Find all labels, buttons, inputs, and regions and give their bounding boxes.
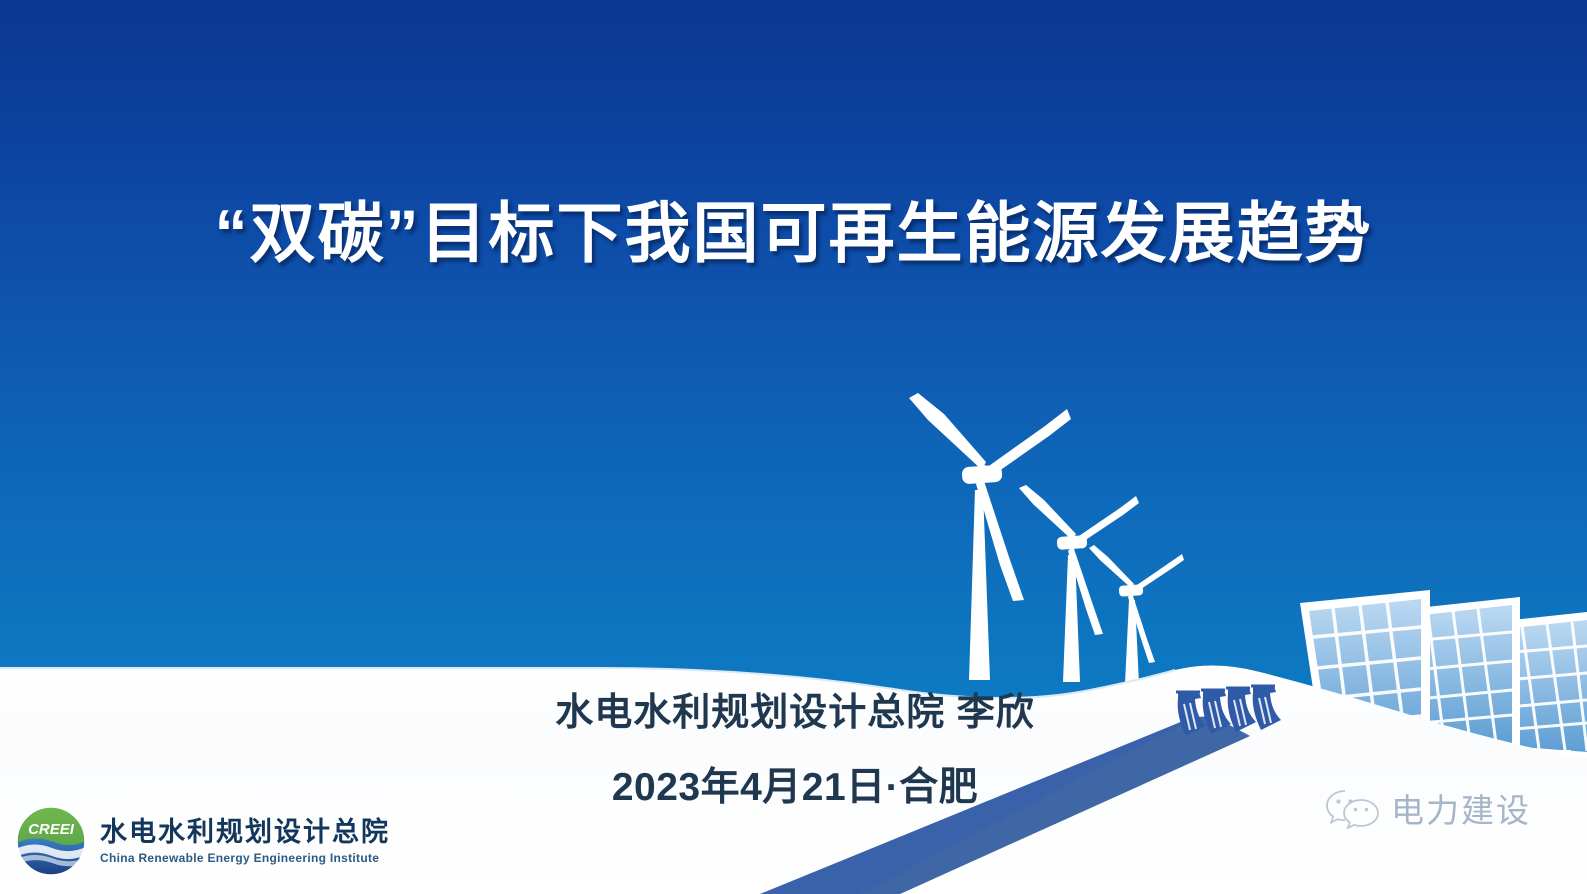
presenter-name: 水电水利规划设计总院 李欣 bbox=[505, 694, 1085, 732]
wechat-watermark-label: 电力建设 bbox=[1391, 784, 1531, 832]
creei-circle-logo: CREEI bbox=[14, 804, 88, 878]
wind-turbine-icon bbox=[909, 393, 1184, 684]
date-location: 2023年4月21日·合肥 bbox=[505, 756, 1085, 812]
presenter-info: 水电水利规划设计总院 李欣 2023年4月21日·合肥 bbox=[505, 694, 1085, 812]
presentation-slide: “双碳”目标下我国可再生能源发展趋势 水电水利规划设计总院 李欣 2023年4月… bbox=[0, 0, 1587, 894]
wechat-icon bbox=[1325, 787, 1381, 829]
organization-name-cn: 水电水利规划设计总院 bbox=[100, 819, 390, 846]
organization-logo: CREEI 水电水利规划设计总院 China Renewable Energy … bbox=[14, 804, 390, 878]
slide-title: “双碳”目标下我国可再生能源发展趋势 bbox=[0, 196, 1587, 272]
organization-name-en: China Renewable Energy Engineering Insti… bbox=[100, 852, 390, 864]
wechat-watermark: 电力建设 bbox=[1325, 784, 1531, 832]
svg-text:CREEI: CREEI bbox=[28, 821, 75, 838]
